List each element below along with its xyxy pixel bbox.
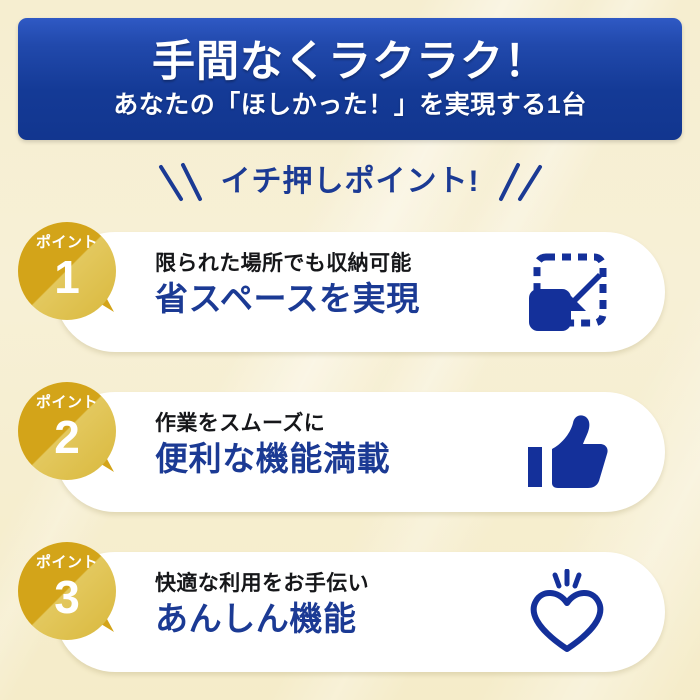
point-card-text: 限られた場所でも収納可能 省スペースを実現 xyxy=(155,252,485,317)
section-heading: イチ押しポイント! xyxy=(0,158,700,206)
header-banner: 手間なくラクラク！ あなたの「ほしかった！」を実現する1台 xyxy=(18,18,682,140)
point-card-text: 快適な利用をお手伝い あんしん機能 xyxy=(155,572,485,637)
section-title: イチ押しポイント! xyxy=(221,167,480,197)
point-card: 作業をスムーズに 便利な機能満載 xyxy=(55,392,665,512)
point-badge: ポイント 1 xyxy=(18,222,120,334)
point-card-text: 作業をスムーズに 便利な機能満載 xyxy=(155,412,485,477)
heart-sparkle-icon xyxy=(521,566,613,658)
point-headline-text: あんしん機能 xyxy=(155,601,485,638)
point-badge: ポイント 2 xyxy=(18,382,120,494)
point-card: 限られた場所でも収納可能 省スペースを実現 xyxy=(55,232,665,352)
badge-shape-icon xyxy=(18,222,120,334)
banner-subtitle: あなたの「ほしかった！」を実現する1台 xyxy=(113,93,586,118)
slash-decoration-left-icon xyxy=(153,161,209,203)
point-headline-text: 便利な機能満載 xyxy=(155,441,485,478)
point-lead-text: 作業をスムーズに xyxy=(155,412,485,436)
point-badge: ポイント 3 xyxy=(18,542,120,654)
badge-shape-icon xyxy=(18,382,120,494)
point-lead-text: 快適な利用をお手伝い xyxy=(155,572,485,596)
point-headline-text: 省スペースを実現 xyxy=(155,281,485,318)
thumbs-up-icon xyxy=(521,406,613,498)
point-lead-text: 限られた場所でも収納可能 xyxy=(155,252,485,276)
banner-title: 手間なくラクラク！ xyxy=(152,41,548,84)
point-card: 快適な利用をお手伝い あんしん機能 xyxy=(55,552,665,672)
slash-decoration-right-icon xyxy=(492,161,548,203)
space-saving-icon xyxy=(521,246,613,338)
promo-graphic: 手間なくラクラク！ あなたの「ほしかった！」を実現する1台 イチ押しポイント! … xyxy=(0,0,700,700)
badge-shape-icon xyxy=(18,542,120,654)
